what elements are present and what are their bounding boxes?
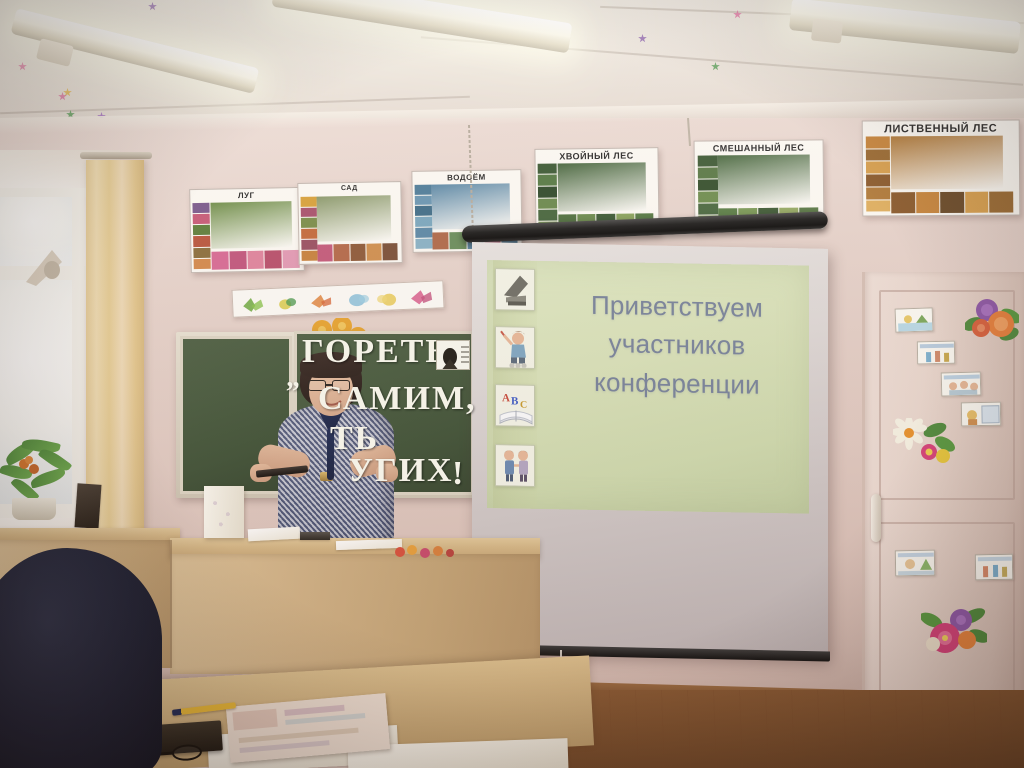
slide-line-2: участников	[551, 324, 803, 367]
kid-drawing	[961, 402, 1001, 427]
poster-thumbnail	[538, 163, 557, 174]
poster-thumbnail	[193, 203, 210, 213]
lamp-end-cap	[811, 18, 843, 43]
poster-main-photo	[718, 155, 811, 205]
poster-main-photo	[317, 195, 391, 241]
poster-side-thumbnails	[415, 184, 433, 248]
flower-decal-pink-gerbera	[921, 604, 987, 658]
poster-title: ЛУГ	[190, 190, 302, 201]
poster-thumbnail	[301, 229, 317, 239]
poster-thumbnail	[866, 200, 890, 212]
poster-thumbnail	[301, 196, 317, 206]
poster-thumbnail	[940, 192, 964, 213]
screen-hook	[680, 118, 700, 146]
poster-thumbnail	[698, 191, 718, 202]
poster-main-photo	[211, 201, 293, 249]
chalkboard-line-4: УГИХ	[348, 452, 454, 490]
poster-thumbnail	[415, 184, 432, 194]
poster-thumbnail	[698, 203, 718, 214]
flower-decal-roses-purple	[965, 296, 1019, 344]
poster-garden: САД	[297, 181, 402, 265]
poster-thumbnail	[193, 236, 210, 246]
poster-side-thumbnails	[193, 203, 211, 269]
flower-decal-daisy	[893, 418, 955, 464]
poster-thumbnail	[866, 162, 890, 174]
poster-title: ХВОЙНЫЙ ЛЕС	[535, 150, 657, 162]
poster-bottom-thumbnails	[212, 250, 300, 270]
curtain-rod	[80, 152, 152, 159]
poster-title: САД	[298, 184, 400, 193]
projected-slide: A B C	[487, 260, 809, 514]
poster-thumbnail	[265, 251, 282, 269]
poster-thumbnail	[538, 187, 557, 198]
slide-line-3: конференции	[551, 362, 803, 405]
thumb-two-children	[495, 444, 535, 487]
thumb-arrow-bird	[495, 268, 535, 311]
poster-thumbnail	[282, 250, 299, 268]
kid-drawing	[917, 341, 955, 365]
desk-pointer	[300, 532, 330, 540]
poster-thumbnail	[415, 217, 432, 227]
poster-thumbnail	[866, 174, 890, 186]
svg-text:B: B	[511, 395, 519, 407]
poster-thumbnail	[194, 258, 211, 268]
poster-thumbnail	[415, 228, 432, 238]
chalkboard-line-2: САМИМ,	[318, 380, 477, 418]
poster-bottom-thumbnails	[891, 192, 1013, 213]
poster-thumbnail	[866, 187, 890, 199]
poster-deciduous-forest: ЛИСТВЕННЫЙ ЛЕС	[862, 119, 1021, 216]
poster-thumbnail	[415, 206, 432, 216]
card-box	[204, 486, 244, 538]
poster-thumbnail	[697, 156, 717, 167]
poster-title: СМЕШАННЫЙ ЛЕС	[695, 142, 823, 153]
poster-thumbnail	[416, 239, 433, 249]
screen-pull-chain	[455, 125, 485, 235]
poster-thumbnail	[212, 252, 229, 270]
window-frame-photo	[74, 483, 101, 529]
poster-thumbnail	[247, 251, 264, 269]
poster-thumbnail	[334, 244, 349, 262]
poster-side-thumbnails	[301, 196, 318, 260]
thumb-girl-rollerskates	[495, 326, 535, 369]
poster-title: ЛИСТВЕННЫЙ ЛЕС	[863, 122, 1019, 135]
kid-drawing	[895, 307, 934, 332]
poster-thumbnail	[301, 207, 317, 217]
poster-thumbnail	[697, 179, 717, 190]
poster-thumbnail	[989, 192, 1013, 213]
poster-thumbnail	[366, 243, 381, 261]
desk-flowers	[392, 544, 464, 558]
poster-thumbnail	[318, 244, 333, 262]
poster-thumbnail	[382, 243, 397, 261]
poster-thumbnail	[891, 193, 915, 214]
poster-thumbnail	[539, 210, 558, 221]
kid-drawing	[895, 550, 935, 577]
classroom-photo: ЛУГСАДВОДОЁМХВОЙНЫЙ ЛЕССМЕШАННЫЙ ЛЕСЛИСТ…	[0, 0, 1024, 768]
desk-seam	[170, 540, 172, 668]
kid-drawing	[975, 554, 1013, 581]
poster-bottom-thumbnails	[318, 243, 398, 262]
poster-thumbnail	[229, 251, 246, 269]
slide-line-1: Приветствуем	[551, 285, 803, 328]
poster-thumbnail	[302, 251, 318, 261]
window-plant	[0, 440, 80, 524]
svg-text:C: C	[520, 400, 527, 411]
kid-drawing	[941, 371, 982, 396]
chalkboard-exclamation: !	[452, 455, 465, 493]
poster-thumbnail	[916, 192, 940, 213]
poster-main-photo	[891, 136, 1004, 189]
thumb-abc-book: A B C	[495, 384, 535, 427]
chalkboard-line-1: ГОРЕТЬ	[302, 333, 450, 371]
poster-thumbnail	[965, 192, 989, 213]
poster-thumbnail	[193, 214, 210, 224]
poster-thumbnail	[193, 225, 210, 235]
poster-thumbnail	[697, 167, 717, 178]
svg-text:A: A	[502, 392, 510, 404]
poster-thumbnail	[433, 232, 449, 250]
poster-meadow: ЛУГ	[189, 187, 305, 273]
desk-front-center	[170, 554, 540, 674]
slide-title-text: Приветствуем участников конференции	[551, 285, 803, 405]
poster-side-thumbnails	[866, 136, 891, 211]
poster-thumbnail	[301, 218, 317, 228]
attendee-foreground	[0, 548, 162, 768]
window-latch-icon[interactable]	[22, 244, 68, 286]
classroom-door[interactable]	[862, 272, 1024, 742]
chalkboard-quote-mark: „	[286, 362, 302, 394]
poster-main-photo	[558, 162, 646, 211]
poster-thumbnail	[866, 149, 890, 161]
poster-thumbnail	[301, 240, 317, 250]
poster-thumbnail	[350, 244, 365, 262]
poster-thumbnail	[194, 247, 211, 257]
poster-thumbnail	[538, 175, 557, 186]
door-handle[interactable]	[871, 494, 881, 542]
chalkboard-pinned-sketch	[436, 340, 470, 370]
poster-thumbnail	[415, 195, 432, 205]
poster-thumbnail	[539, 198, 558, 209]
poster-thumbnail	[866, 136, 890, 148]
